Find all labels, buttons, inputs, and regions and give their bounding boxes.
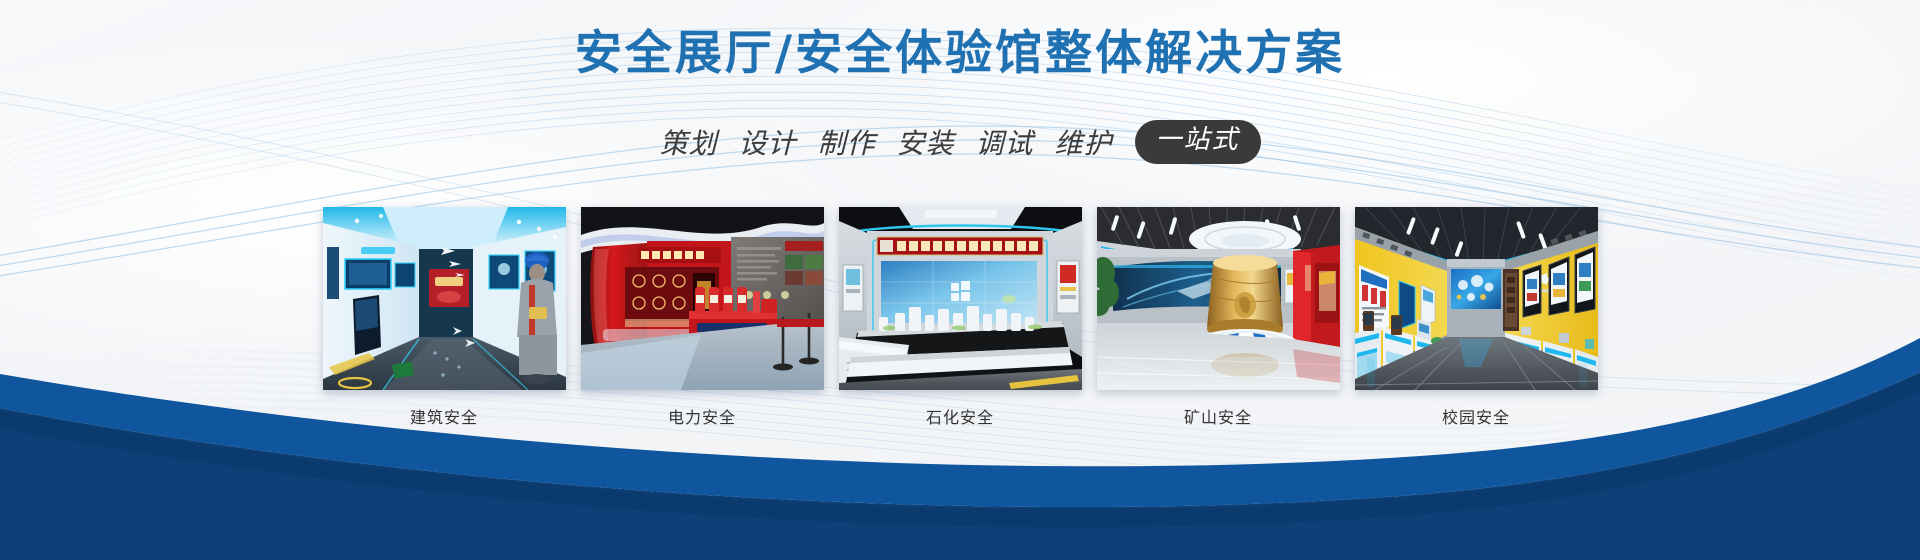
service-steps-list: 策划 设计 制作 安装 调试 维护 bbox=[659, 122, 1112, 162]
service-step-debugging: 调试 bbox=[976, 122, 1034, 162]
service-step-design: 设计 bbox=[738, 122, 796, 162]
solution-cards-row: 建筑安全 bbox=[0, 207, 1920, 428]
service-step-installation: 安装 bbox=[896, 122, 954, 162]
banner-root: 安全展厅/安全体验馆整体解决方案 策划 设计 制作 安装 调试 维护 一站式 bbox=[0, 0, 1920, 560]
subtitle-block: 策划 设计 制作 安装 调试 维护 一站式 bbox=[0, 120, 1920, 164]
construction-safety-exhibition-hall-image bbox=[323, 207, 566, 390]
thumbnail-mine-safety[interactable] bbox=[1097, 207, 1340, 390]
service-step-production: 制作 bbox=[817, 122, 875, 162]
campus-safety-exhibition-hall-image bbox=[1355, 207, 1598, 390]
card-caption-petrochemical-safety: 石化安全 bbox=[839, 404, 1082, 428]
solution-card-construction-safety[interactable]: 建筑安全 bbox=[323, 207, 566, 428]
card-caption-campus-safety: 校园安全 bbox=[1355, 404, 1598, 428]
card-caption-electric-power-safety: 电力安全 bbox=[581, 404, 824, 428]
thumbnail-electric-power-safety[interactable] bbox=[581, 207, 824, 390]
card-caption-construction-safety: 建筑安全 bbox=[323, 404, 566, 428]
solution-card-electric-power-safety[interactable]: 电力安全 bbox=[581, 207, 824, 428]
title-block: 安全展厅/安全体验馆整体解决方案 bbox=[0, 26, 1920, 81]
electric-power-safety-exhibition-hall-image bbox=[581, 207, 824, 390]
thumbnail-construction-safety[interactable] bbox=[323, 207, 566, 390]
card-caption-mine-safety: 矿山安全 bbox=[1097, 404, 1340, 428]
golden-bell-sculpture bbox=[1207, 255, 1283, 339]
petrochemical-safety-exhibition-hall-image bbox=[839, 207, 1082, 390]
mine-safety-exhibition-hall-image bbox=[1097, 207, 1340, 390]
thumbnail-campus-safety[interactable] bbox=[1355, 207, 1598, 390]
one-stop-service-badge: 一站式 bbox=[1135, 120, 1261, 164]
service-step-planning: 策划 bbox=[659, 122, 717, 162]
solution-card-petrochemical-safety[interactable]: 石化安全 bbox=[839, 207, 1082, 428]
solution-card-mine-safety[interactable]: 矿山安全 bbox=[1097, 207, 1340, 428]
solution-card-campus-safety[interactable]: 校园安全 bbox=[1355, 207, 1598, 428]
page-title: 安全展厅/安全体验馆整体解决方案 bbox=[0, 26, 1920, 81]
service-step-maintenance: 维护 bbox=[1055, 122, 1113, 162]
thumbnail-petrochemical-safety[interactable] bbox=[839, 207, 1082, 390]
